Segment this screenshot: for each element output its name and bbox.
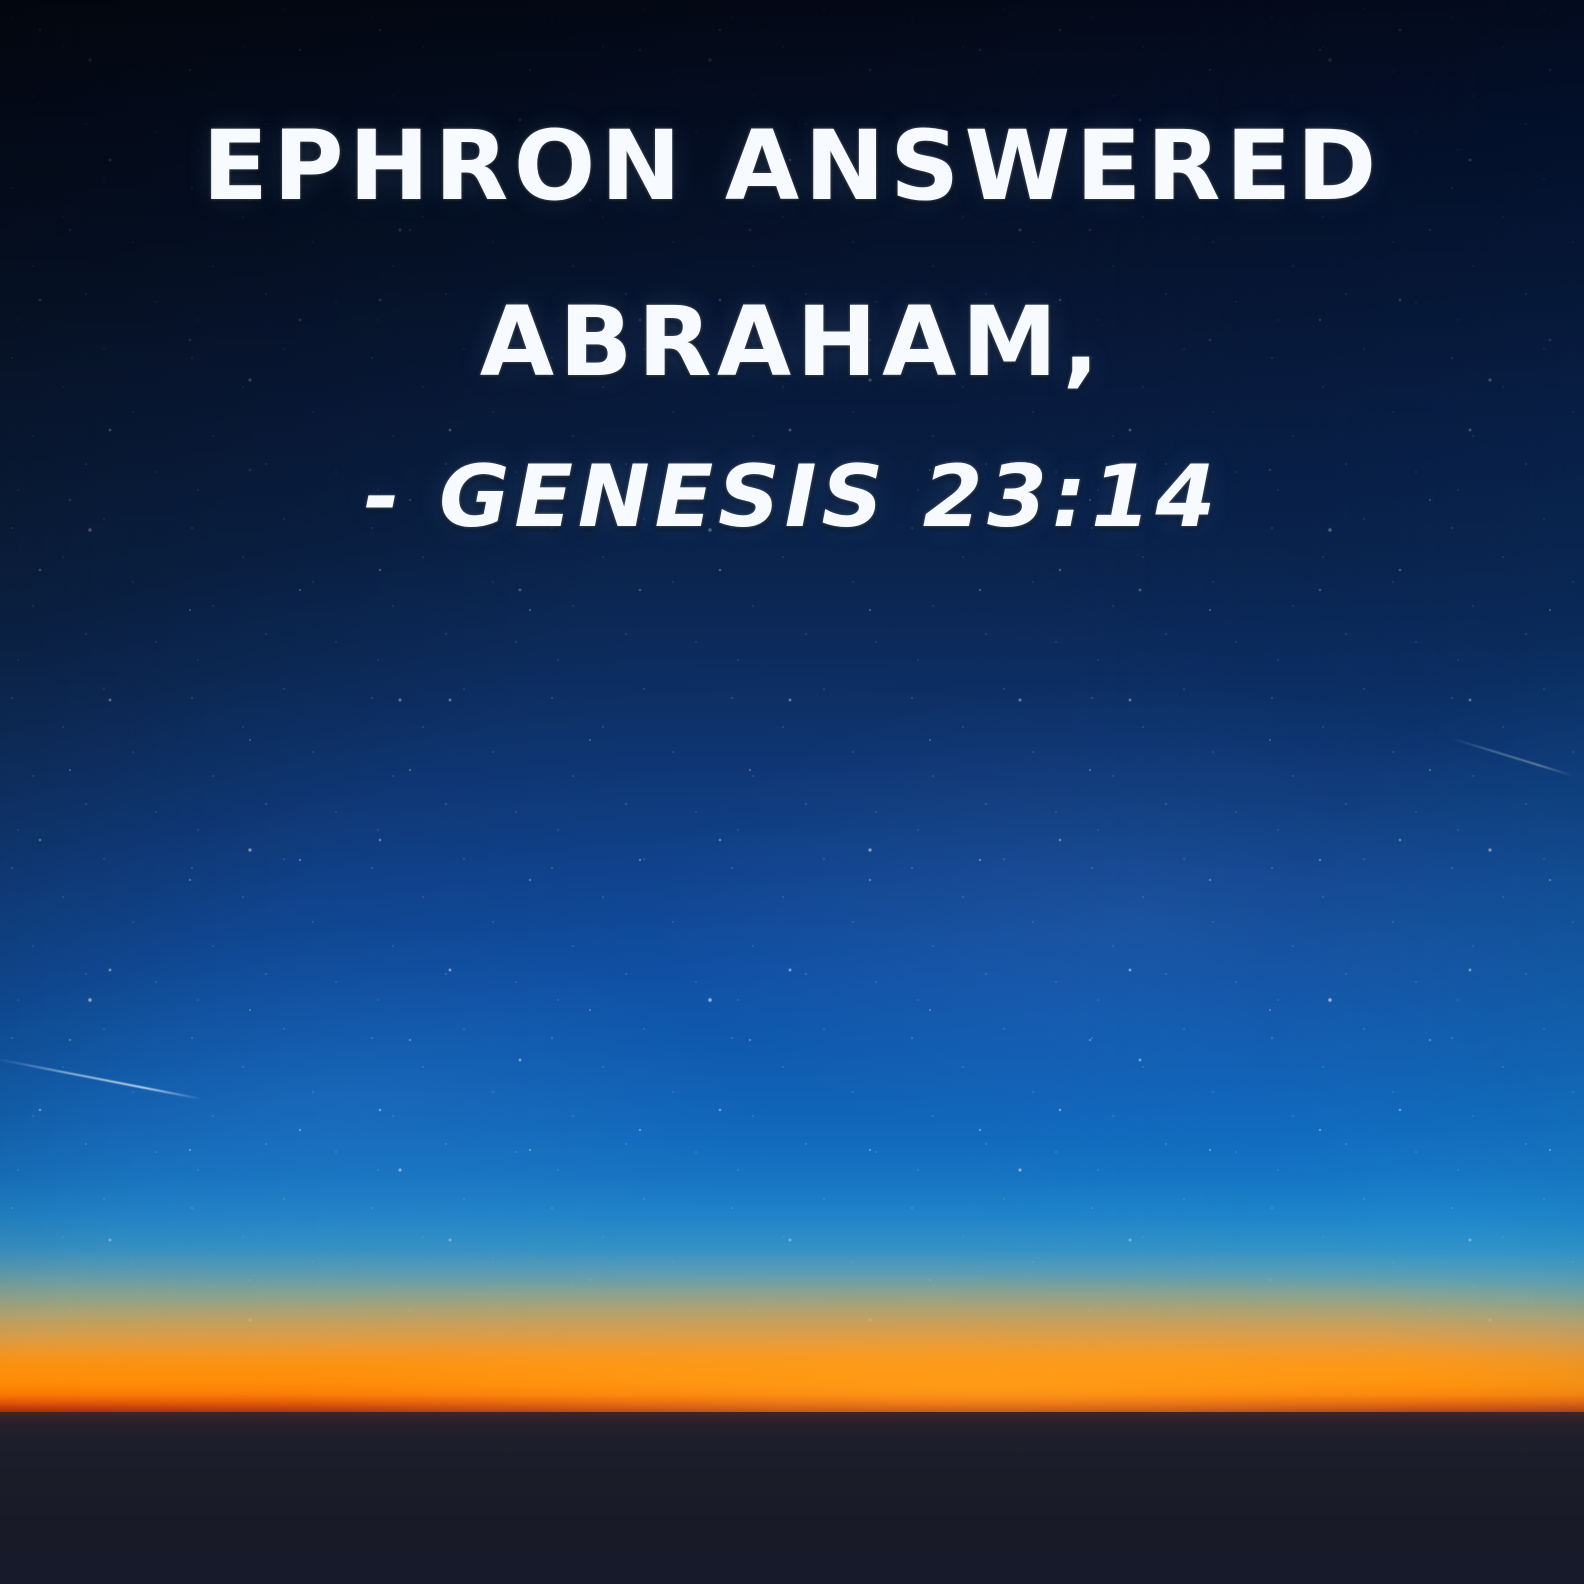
ground-silhouette — [0, 1412, 1584, 1584]
verse-text-block: Ephron answered Abraham, - Genesis 23:14 — [0, 118, 1584, 540]
meteor-streak-right — [1451, 737, 1574, 776]
verse-line-2: Abraham, — [0, 294, 1584, 392]
horizon-line — [0, 1412, 1584, 1472]
verse-reference: - Genesis 23:14 — [0, 454, 1584, 540]
verse-line-1: Ephron answered — [0, 118, 1584, 216]
verse-image-canvas: Ephron answered Abraham, - Genesis 23:14 — [0, 0, 1584, 1584]
meteor-streak-left — [0, 1058, 202, 1100]
